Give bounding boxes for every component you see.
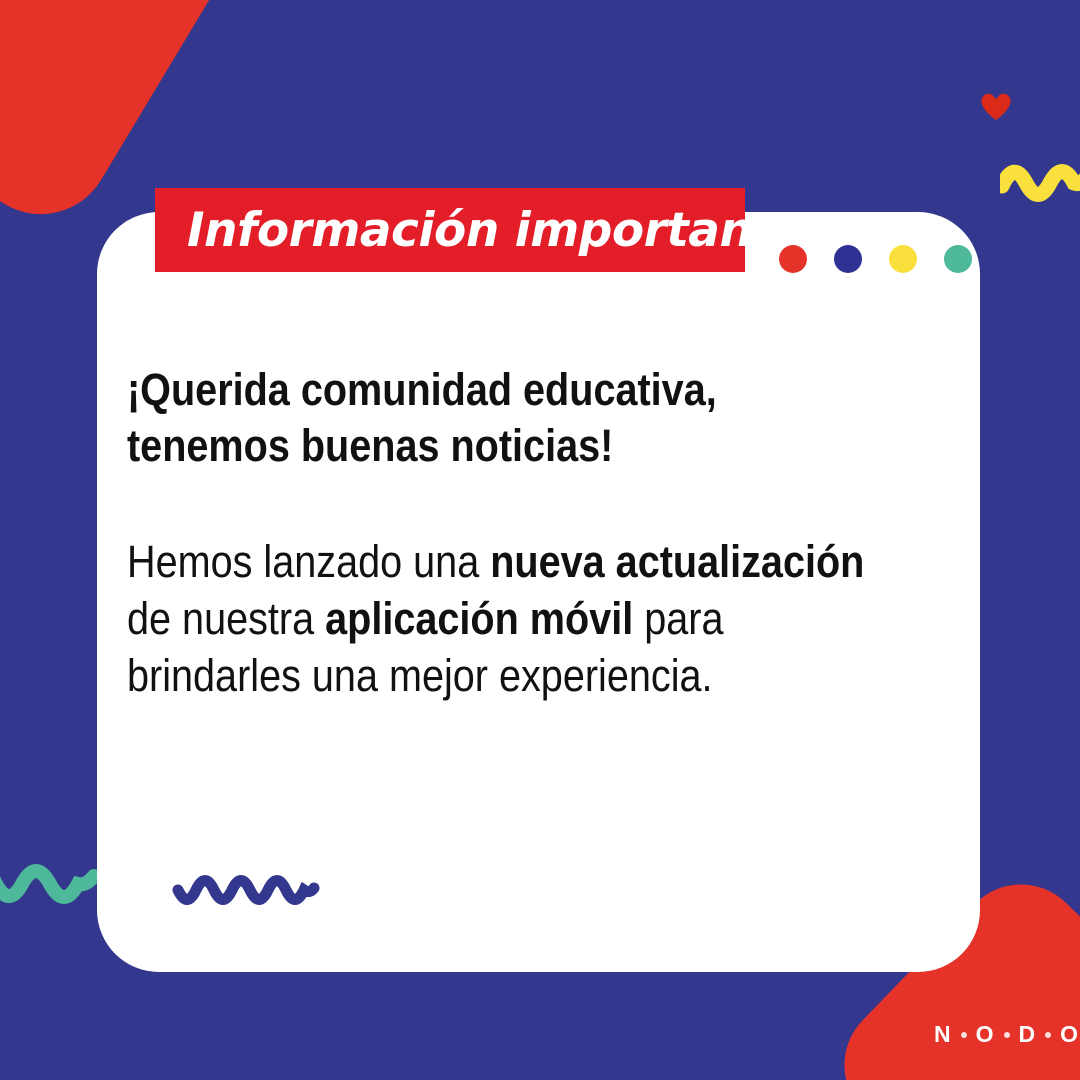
logo-letter-d: D [1019,1021,1037,1048]
wave-yellow-decoration [1000,152,1080,214]
paragraph-segment-0: Hemos lanzado una [127,536,490,587]
card-body: ¡Querida comunidad educativa, tenemos bu… [127,362,887,704]
banner-information-important: Información importante [155,188,745,272]
paragraph-segment-2: de nuestra [127,593,325,644]
window-dots [779,245,972,273]
dot-yellow-icon [889,245,917,273]
logo-node-dot-1 [961,1032,967,1038]
wave-teal-decoration [0,858,102,918]
poster-canvas: Información importante ¡Querida comunida… [0,0,1080,1080]
body-paragraph: Hemos lanzado una nueva actualización de… [127,474,888,704]
nodos-logo: N O D O S [934,1019,1052,1053]
logo-node-dot-2 [1004,1032,1010,1038]
dot-blue-icon [834,245,862,273]
wave-blue-decoration [172,868,320,920]
dot-teal-icon [944,245,972,273]
heart-icon [981,93,1011,121]
paragraph-segment-3: aplicación móvil [325,593,633,644]
banner-title: Información importante [187,203,806,258]
dot-red-icon [779,245,807,273]
logo-letter-o1: O [976,1021,995,1048]
paragraph-segment-1: nueva actualización [490,536,864,587]
logo-node-dot-3 [1045,1032,1051,1038]
headline: ¡Querida comunidad educativa, tenemos bu… [127,362,796,474]
nodos-logo-text: N O D O S [934,1021,1080,1048]
logo-letter-o2: O [1060,1021,1079,1048]
logo-letter-n: N [934,1021,952,1048]
